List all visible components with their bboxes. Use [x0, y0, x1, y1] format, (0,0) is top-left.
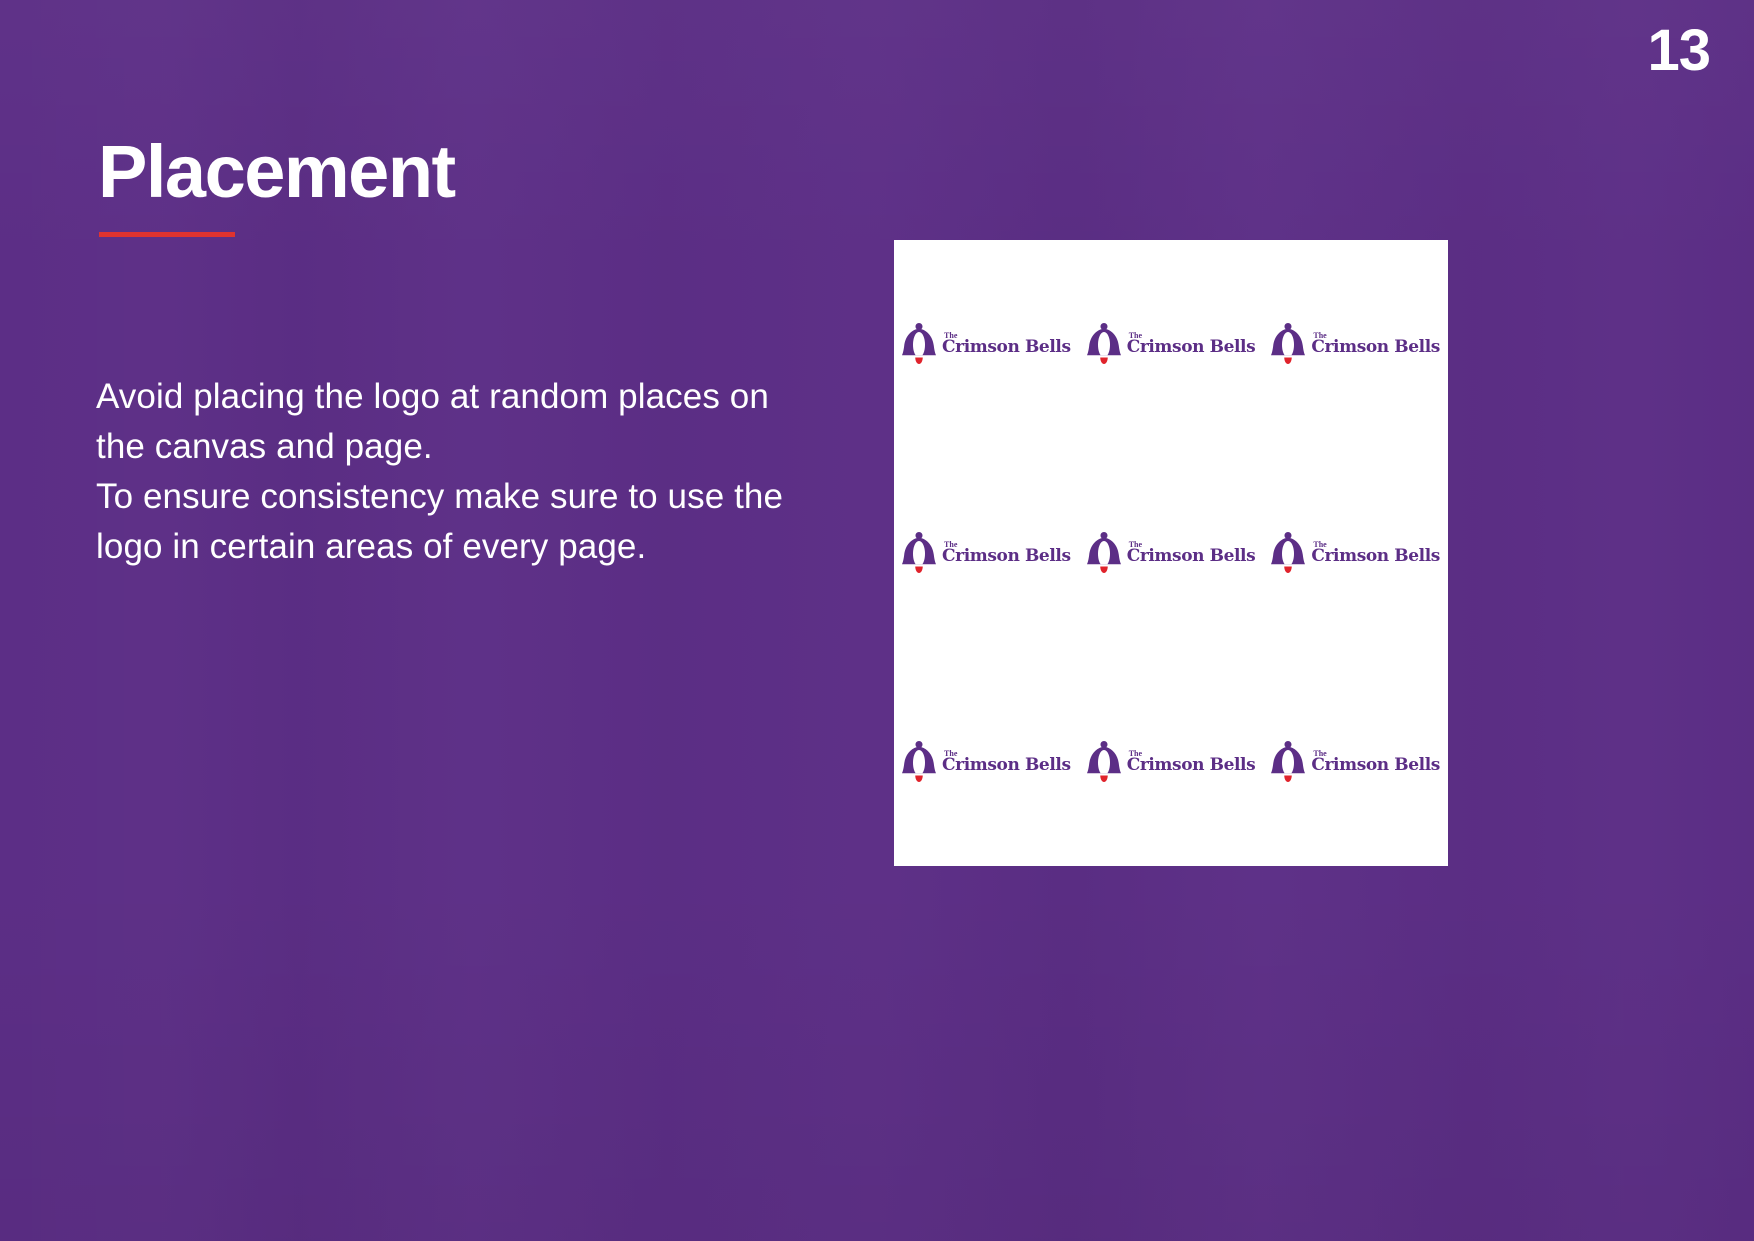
logo-wordmark: The Crimson Bells — [1127, 750, 1256, 774]
slide: 13 Placement Avoid placing the logo at r… — [0, 0, 1754, 1241]
bell-icon — [1087, 741, 1121, 783]
logo-wordmark: The Crimson Bells — [942, 750, 1071, 774]
bell-icon — [902, 532, 936, 574]
bell-icon — [1271, 532, 1305, 574]
bell-icon — [1271, 323, 1305, 365]
logo-cell-top-center: The Crimson Bells — [1079, 240, 1264, 449]
logo-name: Crimson Bells — [1311, 339, 1440, 356]
logo-cell-middle-left: The Crimson Bells — [894, 449, 1079, 658]
bell-icon — [1087, 532, 1121, 574]
logo-wordmark: The Crimson Bells — [942, 332, 1071, 356]
logo-name: Crimson Bells — [1311, 548, 1440, 565]
body-line-3: To ensure consistency make sure to use t… — [96, 472, 856, 522]
logo-name: Crimson Bells — [942, 339, 1071, 356]
logo-lockup: The Crimson Bells — [902, 532, 1071, 574]
bell-icon — [1271, 741, 1305, 783]
logo-wordmark: The Crimson Bells — [1127, 541, 1256, 565]
logo-name: Crimson Bells — [942, 757, 1071, 774]
logo-name: Crimson Bells — [1127, 757, 1256, 774]
bell-icon — [902, 741, 936, 783]
body-line-4: logo in certain areas of every page. — [96, 522, 856, 572]
page-number: 13 — [1647, 22, 1710, 80]
logo-lockup: The Crimson Bells — [1087, 532, 1256, 574]
body-line-2: the canvas and page. — [96, 422, 856, 472]
logo-lockup: The Crimson Bells — [1271, 741, 1440, 783]
logo-lockup: The Crimson Bells — [1087, 741, 1256, 783]
title-accent-rule — [99, 232, 235, 237]
logo-lockup: The Crimson Bells — [902, 741, 1071, 783]
logo-lockup: The Crimson Bells — [902, 323, 1071, 365]
logo-wordmark: The Crimson Bells — [1311, 750, 1440, 774]
bell-icon — [1087, 323, 1121, 365]
body-copy: Avoid placing the logo at random places … — [96, 372, 856, 572]
body-line-1: Avoid placing the logo at random places … — [96, 372, 856, 422]
logo-name: Crimson Bells — [942, 548, 1071, 565]
logo-wordmark: The Crimson Bells — [1311, 541, 1440, 565]
logo-name: Crimson Bells — [1127, 548, 1256, 565]
logo-wordmark: The Crimson Bells — [1311, 332, 1440, 356]
logo-wordmark: The Crimson Bells — [942, 541, 1071, 565]
logo-cell-middle-right: The Crimson Bells — [1263, 449, 1448, 658]
logo-cell-bottom-left: The Crimson Bells — [894, 657, 1079, 866]
logo-name: Crimson Bells — [1311, 757, 1440, 774]
logo-cell-top-left: The Crimson Bells — [894, 240, 1079, 449]
page-title: Placement — [98, 133, 455, 211]
logo-cell-top-right: The Crimson Bells — [1263, 240, 1448, 449]
logo-placement-canvas: The Crimson Bells The Crimson Bells — [894, 240, 1448, 866]
logo-lockup: The Crimson Bells — [1271, 323, 1440, 365]
logo-grid: The Crimson Bells The Crimson Bells — [894, 240, 1448, 866]
logo-name: Crimson Bells — [1127, 339, 1256, 356]
logo-lockup: The Crimson Bells — [1271, 532, 1440, 574]
logo-cell-bottom-right: The Crimson Bells — [1263, 657, 1448, 866]
logo-cell-bottom-center: The Crimson Bells — [1079, 657, 1264, 866]
logo-lockup: The Crimson Bells — [1087, 323, 1256, 365]
logo-cell-middle-center: The Crimson Bells — [1079, 449, 1264, 658]
logo-wordmark: The Crimson Bells — [1127, 332, 1256, 356]
bell-icon — [902, 323, 936, 365]
